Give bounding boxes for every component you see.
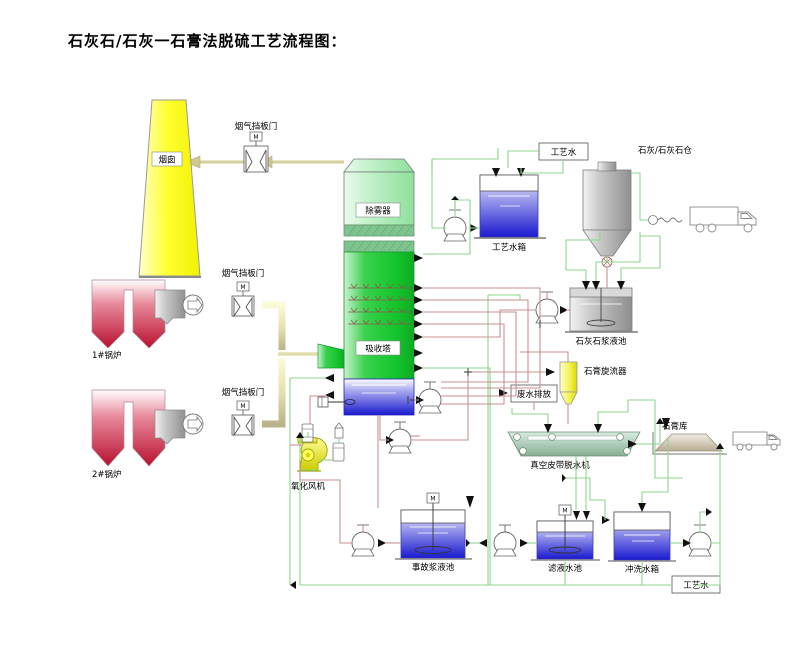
wash-water-tank: 冲洗水箱: [602, 503, 676, 575]
emergency-slurry-tank-label: 事故浆液池: [412, 562, 455, 573]
demister-label: 除雾器: [365, 206, 391, 217]
flue-gas-duct-network: [186, 156, 344, 424]
boiler-1-id-fan: [155, 290, 203, 324]
limestone-slurry-tank-label: 石灰石浆液池: [575, 336, 627, 347]
process-water-top-box: 工艺水: [539, 143, 588, 160]
gypsum-hydrocyclone: 石膏旋流器: [546, 362, 627, 404]
emergency-slurry-pump: [352, 525, 386, 556]
chimney-label: 烟囱: [158, 155, 175, 166]
boiler-1: 1#锅炉: [92, 280, 165, 361]
damper-b2-tag: M: [240, 403, 245, 410]
lime-silo-label: 石灰/石灰石仓: [638, 145, 692, 156]
process-water-tank-label: 工艺水箱: [492, 242, 527, 253]
limestone-slurry-tank: 石灰石浆液池: [565, 281, 638, 347]
boiler-2-label: 2#锅炉: [92, 469, 122, 480]
damper-boiler-2[interactable]: M 烟气挡板门: [222, 387, 265, 435]
process-water-top-label: 工艺水: [551, 147, 577, 158]
damper-top-label: 烟气挡板门: [235, 121, 278, 132]
filtrate-pump: [479, 525, 528, 556]
absorber-label: 吸收塔: [365, 344, 391, 355]
delivery-truck-gypsum: [733, 432, 780, 450]
boiler-1-label: 1#锅炉: [92, 350, 122, 361]
vacuum-belt-filter-label: 真空皮带脱水机: [530, 460, 590, 471]
vacuum-belt-filter: 真空皮带脱水机: [508, 424, 640, 471]
oxidation-fan: 氧化风机: [291, 438, 327, 492]
absorber-recycle-pump-2: [386, 422, 411, 453]
tower-left-arrows: [325, 374, 334, 399]
process-flow-diagram: 烟囱 M 烟气挡板门 1#锅炉 M 烟气挡板门 2#锅炉: [0, 0, 800, 653]
filtrate-tank-motor-tag: M: [562, 508, 567, 515]
boiler-2: 2#锅炉: [92, 390, 165, 480]
emergency-tank-motor-tag: M: [430, 496, 435, 503]
damper-b1-label: 烟气挡板门: [222, 268, 265, 279]
delivery-truck-silo: [690, 207, 756, 232]
oxidation-fan-label: 氧化风机: [291, 481, 326, 492]
chimney: 烟囱: [139, 100, 201, 277]
process-water-tank: 工艺水箱: [474, 168, 546, 253]
limestone-slurry-pump: [536, 292, 568, 323]
emergency-slurry-tank: M 事故浆液池: [395, 493, 474, 573]
silo-fill-line: [631, 173, 682, 225]
wash-water-pump: [683, 525, 711, 556]
boiler-2-id-fan: [155, 410, 203, 444]
process-water-pump: [444, 210, 478, 241]
gypsum-cyclone-label: 石膏旋流器: [584, 366, 627, 377]
wastewater-discharge-label: 废水排放: [517, 389, 552, 400]
slurry-piping-network: [290, 267, 607, 543]
damper-b2-label: 烟气挡板门: [222, 387, 265, 398]
damper-top-tag: M: [253, 134, 258, 141]
damper-boiler-1[interactable]: M 烟气挡板门: [222, 268, 265, 316]
damper-b1-tag: M: [240, 284, 245, 291]
gypsum-storage: 石膏库: [653, 418, 727, 454]
lime-silo: 石灰/石灰石仓: [583, 145, 692, 267]
